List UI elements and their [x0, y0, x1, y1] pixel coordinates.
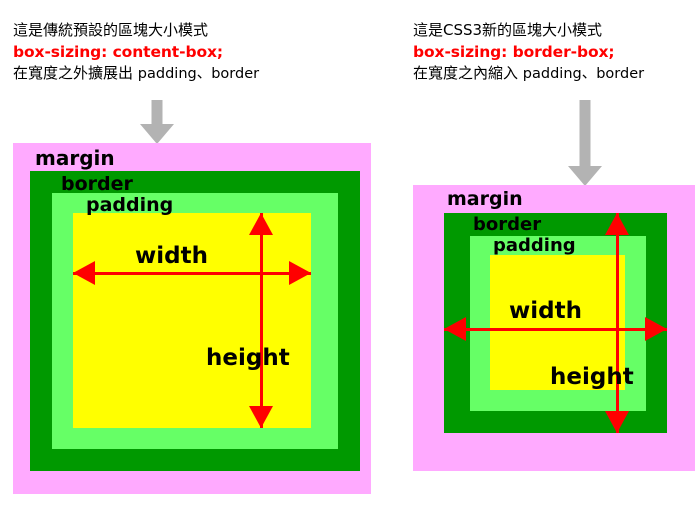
gray-down-arrow-right	[568, 100, 602, 186]
caption-content-box: 這是傳統預設的區塊大小模式 box-sizing: content-box; 在…	[13, 20, 259, 85]
label-padding: padding	[86, 194, 173, 216]
gray-down-arrow-left	[140, 100, 174, 144]
label-padding: padding	[493, 235, 576, 256]
caption-line-3: 在寬度之外擴展出 padding、border	[13, 63, 259, 85]
arrow-head-left	[73, 261, 95, 285]
arrow-head-down	[249, 406, 273, 428]
arrow-shaft	[152, 100, 163, 126]
label-border: border	[61, 173, 133, 195]
arrow-line	[73, 272, 311, 275]
arrow-head-right	[645, 317, 667, 341]
label-margin: margin	[447, 188, 523, 210]
label-border: border	[473, 214, 541, 235]
caption-line-1: 這是傳統預設的區塊大小模式	[13, 20, 259, 41]
diagram-stage: 這是傳統預設的區塊大小模式 box-sizing: content-box; 在…	[0, 0, 700, 514]
label-height: height	[550, 364, 634, 390]
arrow-head	[140, 124, 174, 144]
caption-border-box: 這是CSS3新的區塊大小模式 box-sizing: border-box; 在…	[413, 20, 644, 85]
arrow-head	[568, 166, 602, 186]
caption-line-3-latin: padding、border	[138, 66, 259, 82]
caption-code-line: box-sizing: content-box;	[13, 41, 259, 63]
label-width: width	[509, 298, 582, 324]
arrow-line	[616, 213, 619, 433]
caption-line-3: 在寬度之內縮入 padding、border	[413, 63, 644, 85]
caption-code-line: box-sizing: border-box;	[413, 41, 644, 63]
arrow-shaft	[580, 100, 591, 168]
arrow-line	[260, 213, 263, 428]
arrow-head-down	[605, 411, 629, 433]
arrow-head-up	[605, 213, 629, 235]
label-margin: margin	[35, 146, 115, 170]
caption-line-3-cjk: 在寬度之內縮入	[413, 64, 518, 82]
arrow-head-right	[289, 261, 311, 285]
box-model-border-box: margin border padding width height	[413, 185, 695, 471]
label-height: height	[206, 345, 290, 371]
box-model-content-box: margin border padding width height	[13, 143, 371, 494]
arrow-head-left	[444, 317, 466, 341]
height-measure-arrow	[605, 213, 629, 433]
label-width: width	[135, 243, 208, 269]
height-measure-arrow	[249, 213, 273, 428]
arrow-head-up	[249, 213, 273, 235]
caption-line-3-cjk: 在寬度之外擴展出	[13, 64, 133, 82]
arrow-line	[444, 328, 667, 331]
caption-line-1: 這是CSS3新的區塊大小模式	[413, 20, 644, 41]
caption-line-3-latin: padding、border	[523, 66, 644, 82]
